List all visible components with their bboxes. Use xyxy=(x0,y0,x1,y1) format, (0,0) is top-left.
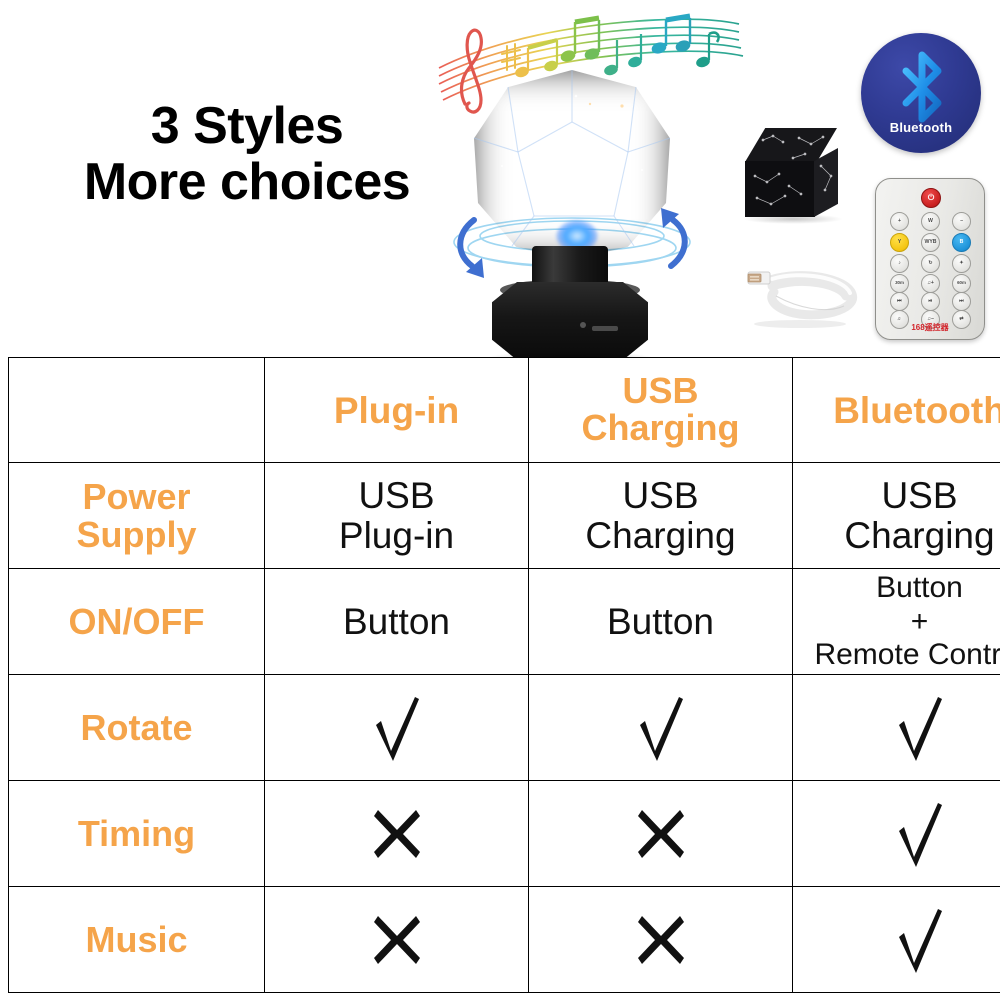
row-label-timing: Timing xyxy=(9,781,265,887)
cross-mark-icon xyxy=(372,914,422,966)
projector-base xyxy=(492,282,648,357)
remote-button-timer-60: 60m xyxy=(952,274,971,293)
projector-dome xyxy=(472,70,672,260)
remote-model-label: 168遥控器 xyxy=(876,322,984,333)
column-header-usb-charging: USB Charging xyxy=(529,358,793,463)
remote-power-button: ⏻ xyxy=(921,188,941,208)
cross-mark-icon xyxy=(636,808,686,860)
table-row-on-off: ON/OFF Button Button Button + Remote Con… xyxy=(9,569,1000,675)
remote-button-w: W xyxy=(921,212,940,231)
cell-timing-plug-in xyxy=(265,781,529,887)
cell-timing-bluetooth xyxy=(793,781,1000,887)
remote-button-play: ⏯ xyxy=(921,292,940,311)
headline-line-2: More choices xyxy=(52,154,442,210)
cell-rotate-plug-in xyxy=(265,675,529,781)
remote-button-volume-up: ♫+ xyxy=(921,274,940,293)
cell-on-off-usb-charging: Button xyxy=(529,569,793,675)
cell-music-usb-charging xyxy=(529,887,793,993)
remote-button-next: ⏭ xyxy=(952,292,971,311)
remote-button-wyb: WYB xyxy=(921,233,940,252)
headline-line-1: 3 Styles xyxy=(52,98,442,154)
cell-rotate-usb-charging xyxy=(529,675,793,781)
cell-music-plug-in xyxy=(265,887,529,993)
remote-button-plus: + xyxy=(890,212,909,231)
check-mark-icon xyxy=(635,695,687,761)
table-row-rotate: Rotate xyxy=(9,675,1000,781)
row-label-rotate: Rotate xyxy=(9,675,265,781)
cell-power-supply-bluetooth: USB Charging xyxy=(793,463,1000,569)
column-header-bluetooth: Bluetooth xyxy=(793,358,1000,463)
star-projector-image xyxy=(440,68,705,357)
cell-on-off-bluetooth: Button + Remote Control xyxy=(793,569,1000,675)
remote-button-previous: ⏮ xyxy=(890,292,909,311)
check-mark-icon xyxy=(371,695,423,761)
table-header-row: Plug-in USB Charging Bluetooth xyxy=(9,358,1000,463)
base-usb-port xyxy=(592,326,618,331)
remote-button-b: B xyxy=(952,233,971,252)
bluetooth-badge: Bluetooth xyxy=(861,33,981,153)
box-drop-shadow xyxy=(743,214,843,224)
hero-banner: 3 Styles More choices xyxy=(0,0,1000,357)
cell-on-off-plug-in: Button xyxy=(265,569,529,675)
column-header-plug-in: Plug-in xyxy=(265,358,529,463)
check-mark-icon xyxy=(894,695,946,761)
remote-control-image: ⏻ + W − Y WYB B ♪ ↻ ✦ 30m ♫+ 60m ⏮ ⏯ ⏭ ♬… xyxy=(875,178,985,340)
comparison-table: Plug-in USB Charging Bluetooth Power Sup… xyxy=(8,357,1000,993)
cell-timing-usb-charging xyxy=(529,781,793,887)
cell-power-supply-usb-charging: USB Charging xyxy=(529,463,793,569)
remote-button-timer-30: 30m xyxy=(890,274,909,293)
table-corner-cell xyxy=(9,358,265,463)
row-label-power-supply: Power Supply xyxy=(9,463,265,569)
cross-mark-icon xyxy=(372,808,422,860)
usb-cable-image xyxy=(740,250,870,330)
row-label-music: Music xyxy=(9,887,265,993)
check-mark-icon xyxy=(894,801,946,867)
cell-rotate-bluetooth xyxy=(793,675,1000,781)
check-mark-icon xyxy=(894,907,946,973)
cell-power-supply-plug-in: USB Plug-in xyxy=(265,463,529,569)
bluetooth-rune-icon xyxy=(893,51,951,123)
base-power-button xyxy=(580,322,586,328)
remote-button-flash: ✦ xyxy=(952,254,971,273)
remote-button-y: Y xyxy=(890,233,909,252)
remote-button-music: ♪ xyxy=(890,254,909,273)
table-row-power-supply: Power Supply USB Plug-in USB Charging US… xyxy=(9,463,1000,569)
cell-music-bluetooth xyxy=(793,887,1000,993)
table-row-music: Music xyxy=(9,887,1000,993)
row-label-on-off: ON/OFF xyxy=(9,569,265,675)
remote-button-minus: − xyxy=(952,212,971,231)
page-title: 3 Styles More choices xyxy=(52,98,442,210)
cross-mark-icon xyxy=(636,914,686,966)
constellation-pattern-icon xyxy=(737,128,845,224)
remote-button-rotate: ↻ xyxy=(921,254,940,273)
bluetooth-badge-label: Bluetooth xyxy=(861,120,981,135)
table-row-timing: Timing xyxy=(9,781,1000,887)
gift-box-image xyxy=(737,128,845,224)
